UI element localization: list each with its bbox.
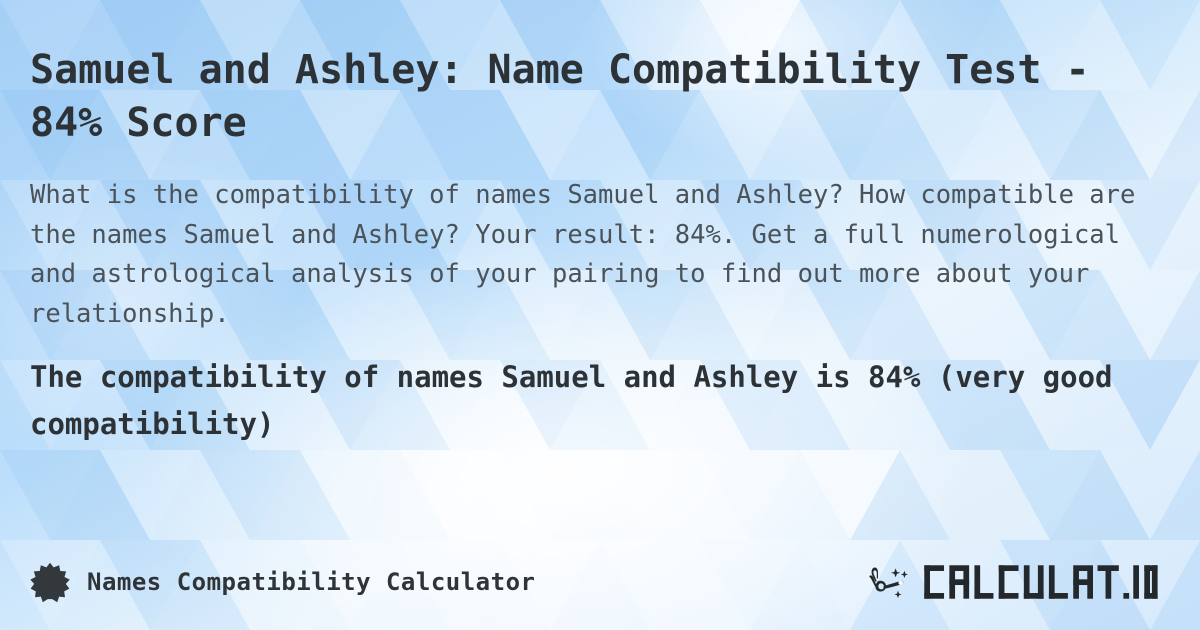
calculatio-logo[interactable]	[866, 562, 1158, 602]
starburst-badge-icon	[30, 562, 70, 602]
result-statement: The compatibility of names Samuel and As…	[30, 354, 1170, 448]
intro-paragraph: What is the compatibility of names Samue…	[30, 176, 1170, 334]
page-title: Samuel and Ashley: Name Compatibility Te…	[30, 44, 1170, 150]
hand-holding-magic-wand-icon	[866, 562, 914, 602]
brand-block: Names Compatibility Calculator	[30, 562, 535, 602]
brand-label: Names Compatibility Calculator	[87, 568, 535, 596]
card-footer: Names Compatibility Calculator	[0, 534, 1200, 630]
share-card: Samuel and Ashley: Name Compatibility Te…	[0, 0, 1200, 630]
logo-wordmark	[922, 563, 1158, 601]
